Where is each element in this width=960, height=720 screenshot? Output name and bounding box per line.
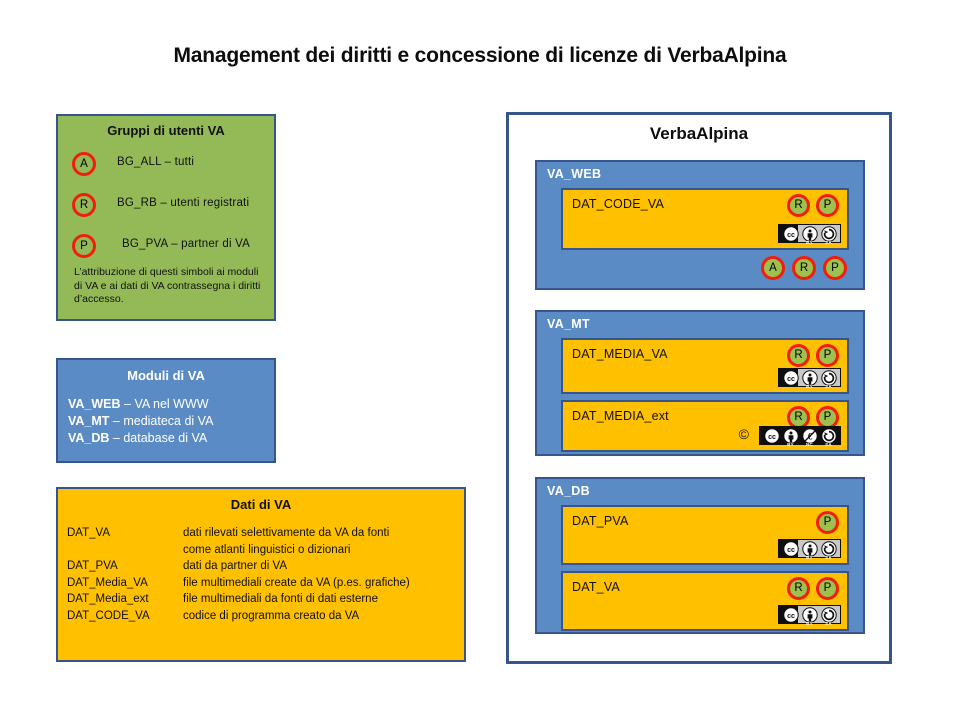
copyright-icon: © [739, 427, 749, 441]
data-desc: come atlanti linguistici o dizionari [183, 542, 410, 559]
svg-text:cc: cc [787, 376, 795, 383]
cc-logo-icon: cc [763, 428, 780, 445]
section-va-mt: VA_MT DAT_MEDIA_VA R P cc BY SA [535, 310, 865, 456]
badge-r-icon: R [72, 193, 96, 217]
badge-p-icon: P [816, 344, 839, 367]
cc-by-icon: BY [801, 607, 818, 624]
svg-text:cc: cc [787, 613, 795, 620]
cc-sa-icon: SA [820, 541, 837, 558]
data-block-dat-va: DAT_VA R P cc BY SA [561, 571, 849, 631]
badge-p-icon: P [823, 256, 847, 280]
user-group-label-rb: BG_RB – utenti registrati [117, 197, 249, 209]
data-key: DAT_Media_VA [67, 575, 183, 592]
data-panel: Dati di VA DAT_VA dati rilevati selettiv… [56, 487, 466, 662]
cc-by-sa-license-icon: cc BY SA [778, 368, 841, 387]
data-block-dat-code-va: DAT_CODE_VA R P cc BY SA [561, 188, 849, 250]
modules-list: VA_WEB – VA nel WWW VA_MT – mediateca di… [68, 396, 213, 447]
badge-r-icon: R [787, 577, 810, 600]
cc-by-abbr: BY [806, 240, 813, 245]
cc-by-abbr: BY [806, 384, 813, 389]
cc-sa-abbr: SA [825, 240, 832, 245]
module-item-va-web-name: VA_WEB [68, 397, 121, 411]
module-item-va-db-name: VA_DB [68, 431, 109, 445]
cc-sa-icon: SA [820, 607, 837, 624]
data-block-access-badges: R P [787, 344, 839, 367]
cc-sa-abbr: SA [825, 384, 832, 389]
table-row: DAT_Media_VA file multimediali create da… [67, 575, 410, 592]
verbaalpina-frame: VerbaAlpina VA_WEB DAT_CODE_VA R P cc BY… [506, 112, 892, 664]
section-va-web: VA_WEB DAT_CODE_VA R P cc BY SA [535, 160, 865, 290]
data-block-name: DAT_PVA [572, 514, 629, 528]
data-block-name: DAT_MEDIA_VA [572, 347, 668, 361]
data-block-dat-pva: DAT_PVA P cc BY SA [561, 505, 849, 565]
data-block-name: DAT_CODE_VA [572, 197, 664, 211]
cc-sa-icon: SA [820, 428, 837, 445]
cc-sa-abbr: SA [825, 555, 832, 560]
data-desc: dati da partner di VA [183, 558, 410, 575]
cc-by-icon: BY [801, 370, 818, 387]
user-groups-note: L’attribuzione di questi simboli ai modu… [74, 266, 266, 307]
cc-by-icon: BY [801, 541, 818, 558]
data-desc: codice di programma creato da VA [183, 608, 410, 625]
cc-logo-icon: cc [782, 541, 799, 558]
data-block-name: DAT_MEDIA_ext [572, 409, 669, 423]
cc-sa-abbr: SA [825, 621, 832, 626]
user-groups-heading: Gruppi di utenti VA [58, 123, 274, 138]
module-item-va-db-desc: – database di VA [109, 431, 207, 445]
data-block-dat-media-va: DAT_MEDIA_VA R P cc BY SA [561, 338, 849, 394]
data-block-access-badges: P [816, 511, 839, 534]
module-item-va-db: VA_DB – database di VA [68, 430, 213, 447]
data-heading: Dati di VA [58, 497, 464, 512]
user-group-row-rb: R BG_RB – utenti registrati [72, 193, 266, 219]
svg-text:cc: cc [787, 232, 795, 239]
module-item-va-web: VA_WEB – VA nel WWW [68, 396, 213, 413]
cc-by-icon: BY [782, 428, 799, 445]
badge-p-icon: P [816, 511, 839, 534]
badge-a-icon: A [761, 256, 785, 280]
cc-by-sa-license-icon: cc BY SA [778, 224, 841, 243]
badge-r-icon: R [787, 344, 810, 367]
page-title: Management dei diritti e concessione di … [0, 44, 960, 68]
cc-by-abbr: BY [787, 442, 794, 447]
cc-by-sa-license-icon: cc BY SA [778, 605, 841, 624]
data-block-dat-media-ext: DAT_MEDIA_ext R P © cc BY € NC [561, 400, 849, 452]
cc-by-sa-license-icon: cc BY SA [778, 539, 841, 558]
user-groups-panel: Gruppi di utenti VA A BG_ALL – tutti R B… [56, 114, 276, 321]
badge-p-icon: P [72, 234, 96, 258]
cc-nc-icon: € NC [801, 428, 818, 445]
table-row: DAT_PVA dati da partner di VA [67, 558, 410, 575]
modules-heading: Moduli di VA [58, 368, 274, 383]
section-va-mt-label: VA_MT [547, 317, 590, 331]
module-item-va-web-desc: – VA nel WWW [121, 397, 209, 411]
user-group-label-all: BG_ALL – tutti [117, 156, 194, 168]
svg-text:cc: cc [787, 547, 795, 554]
svg-text:cc: cc [768, 434, 776, 441]
table-row: DAT_CODE_VA codice di programma creato d… [67, 608, 410, 625]
cc-by-nc-sa-license-icon: cc BY € NC SA [759, 426, 841, 445]
data-key: DAT_PVA [67, 558, 183, 575]
badge-r-icon: R [787, 194, 810, 217]
cc-logo-icon: cc [782, 370, 799, 387]
data-key: DAT_VA [67, 525, 183, 542]
module-item-va-mt-name: VA_MT [68, 414, 109, 428]
cc-sa-icon: SA [820, 226, 837, 243]
cc-logo-icon: cc [782, 607, 799, 624]
user-group-row-all: A BG_ALL – tutti [72, 152, 266, 178]
badge-p-icon: P [816, 194, 839, 217]
user-group-label-pva: BG_PVA – partner di VA [122, 238, 250, 250]
cc-by-abbr: BY [806, 555, 813, 560]
badge-r-icon: R [792, 256, 816, 280]
data-key: DAT_CODE_VA [67, 608, 183, 625]
modules-panel: Moduli di VA VA_WEB – VA nel WWW VA_MT –… [56, 358, 276, 463]
data-desc: file multimediali create da VA (p.es. gr… [183, 575, 410, 592]
section-va-db: VA_DB DAT_PVA P cc BY SA DAT_ [535, 477, 865, 634]
module-item-va-mt-desc: – mediateca di VA [109, 414, 213, 428]
data-block-name: DAT_VA [572, 580, 620, 594]
cc-by-abbr: BY [806, 621, 813, 626]
table-row: DAT_Media_ext file multimediali da fonti… [67, 591, 410, 608]
section-va-db-label: VA_DB [547, 484, 590, 498]
cc-nc-abbr: NC [806, 442, 813, 447]
verbaalpina-title: VerbaAlpina [509, 124, 889, 144]
user-group-row-pva: P BG_PVA – partner di VA [72, 234, 266, 260]
badge-p-icon: P [816, 577, 839, 600]
data-desc: dati rilevati selettivamente da VA da fo… [183, 525, 410, 542]
cc-logo-icon: cc [782, 226, 799, 243]
data-key: DAT_Media_ext [67, 591, 183, 608]
data-desc: file multimediali da fonti di dati ester… [183, 591, 410, 608]
data-definitions-table: DAT_VA dati rilevati selettivamente da V… [67, 525, 410, 624]
module-item-va-mt: VA_MT – mediateca di VA [68, 413, 213, 430]
cc-sa-abbr: SA [825, 442, 832, 447]
section-va-web-label: VA_WEB [547, 167, 601, 181]
cc-by-icon: BY [801, 226, 818, 243]
badge-a-icon: A [72, 152, 96, 176]
data-block-access-badges: R P [787, 577, 839, 600]
section-va-web-access-badges: A R P [761, 256, 847, 280]
data-key [67, 542, 183, 559]
cc-sa-icon: SA [820, 370, 837, 387]
table-row: come atlanti linguistici o dizionari [67, 542, 410, 559]
table-row: DAT_VA dati rilevati selettivamente da V… [67, 525, 410, 542]
data-block-access-badges: R P [787, 194, 839, 217]
